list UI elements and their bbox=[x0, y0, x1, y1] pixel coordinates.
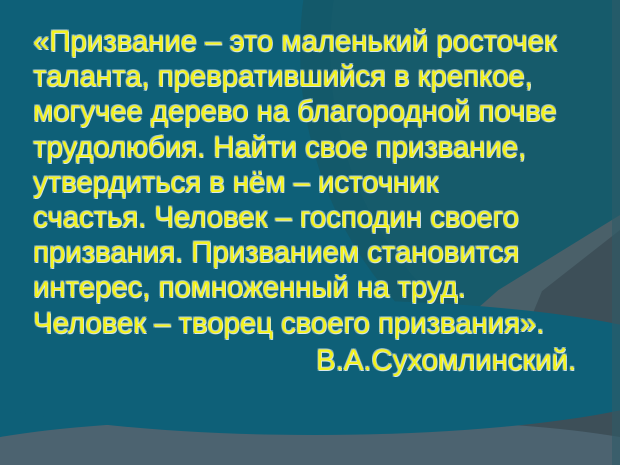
slide-content: «Призвание – это маленький росточек тала… bbox=[0, 0, 620, 465]
quote-attribution: В.А.Сухомлинский. bbox=[33, 343, 598, 378]
quote-line: могучее дерево на благородной почве bbox=[33, 94, 598, 129]
quote-line: таланта, превратившийся в крепкое, bbox=[33, 59, 598, 94]
quote-line: Человек – творец своего призвания». bbox=[33, 306, 598, 341]
quote-line: интерес, помноженный на труд. bbox=[33, 270, 598, 305]
quote-line: счастья. Человек – господин своего bbox=[33, 200, 598, 235]
quote-line: призвания. Призванием становится bbox=[33, 235, 598, 270]
quote-line: «Призвание – это маленький росточек bbox=[33, 24, 598, 59]
quote-line: трудолюбия. Найти свое призвание, bbox=[33, 130, 598, 165]
quote-line: утвердиться в нём – источник bbox=[33, 165, 598, 200]
presentation-slide: «Призвание – это маленький росточек тала… bbox=[0, 0, 620, 465]
